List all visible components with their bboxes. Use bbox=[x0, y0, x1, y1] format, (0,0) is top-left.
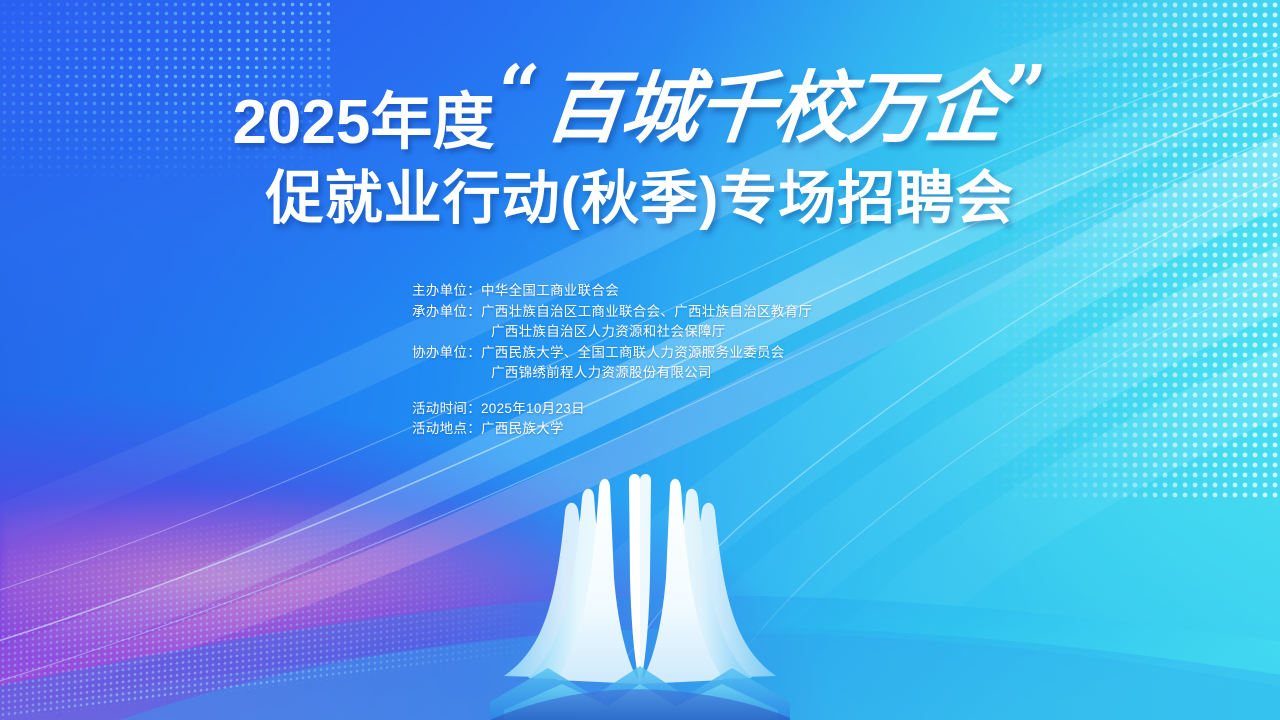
title-line-1: 2025年度 “ 百城千校万企 ” bbox=[0, 68, 1280, 154]
info-spacer bbox=[412, 384, 812, 399]
organizer-value: 中华全国工商业联合会 bbox=[481, 283, 619, 298]
organizer-row: 主办单位：中华全国工商业联合会 bbox=[412, 281, 812, 302]
poster-title-block: 2025年度 “ 百城千校万企 ” 促就业行动(秋季)专场招聘会 bbox=[0, 68, 1280, 228]
cohost-value-line2: 广西锦绣前程人力资源股份有限公司 bbox=[412, 363, 712, 384]
cohost-row-2: 广西锦绣前程人力资源股份有限公司 bbox=[412, 363, 812, 384]
title-brush-phrase: 百城千校万企 bbox=[541, 70, 1005, 148]
event-place-row: 活动地点：广西民族大学 bbox=[412, 419, 812, 440]
title-line-2: 促就业行动(秋季)专场招聘会 bbox=[0, 170, 1280, 228]
title-year: 2025年度 bbox=[232, 92, 494, 154]
organizer-label: 主办单位： bbox=[412, 281, 481, 302]
cohost-label: 协办单位： bbox=[412, 343, 481, 364]
host-row-1: 承办单位：广西壮族自治区工商业联合会、广西壮族自治区教育厅 bbox=[412, 302, 812, 323]
event-time-value: 2025年10月23日 bbox=[481, 401, 585, 416]
host-value-line2: 广西壮族自治区人力资源和社会保障厅 bbox=[412, 322, 726, 343]
event-time-label: 活动时间： bbox=[412, 399, 481, 420]
poster-canvas: 2025年度 “ 百城千校万企 ” 促就业行动(秋季)专场招聘会 主办单位：中华… bbox=[0, 0, 1280, 720]
event-place-label: 活动地点： bbox=[412, 419, 481, 440]
event-info-block: 主办单位：中华全国工商业联合会 承办单位：广西壮族自治区工商业联合会、广西壮族自… bbox=[412, 281, 812, 440]
cohost-value-line1: 广西民族大学、全国工商联人力资源服务业委员会 bbox=[481, 345, 785, 360]
host-row-2: 广西壮族自治区人力资源和社会保障厅 bbox=[412, 322, 812, 343]
close-quote-mark: ” bbox=[1005, 56, 1048, 130]
host-value-line1: 广西壮族自治区工商业联合会、广西壮族自治区教育厅 bbox=[481, 304, 812, 319]
cohost-row-1: 协办单位：广西民族大学、全国工商联人力资源服务业委员会 bbox=[412, 343, 812, 364]
event-time-row: 活动时间：2025年10月23日 bbox=[412, 399, 812, 420]
event-place-value: 广西民族大学 bbox=[481, 421, 564, 436]
open-quote-mark: “ bbox=[498, 56, 541, 130]
host-label: 承办单位： bbox=[412, 302, 481, 323]
landmark-building-icon bbox=[490, 470, 790, 720]
